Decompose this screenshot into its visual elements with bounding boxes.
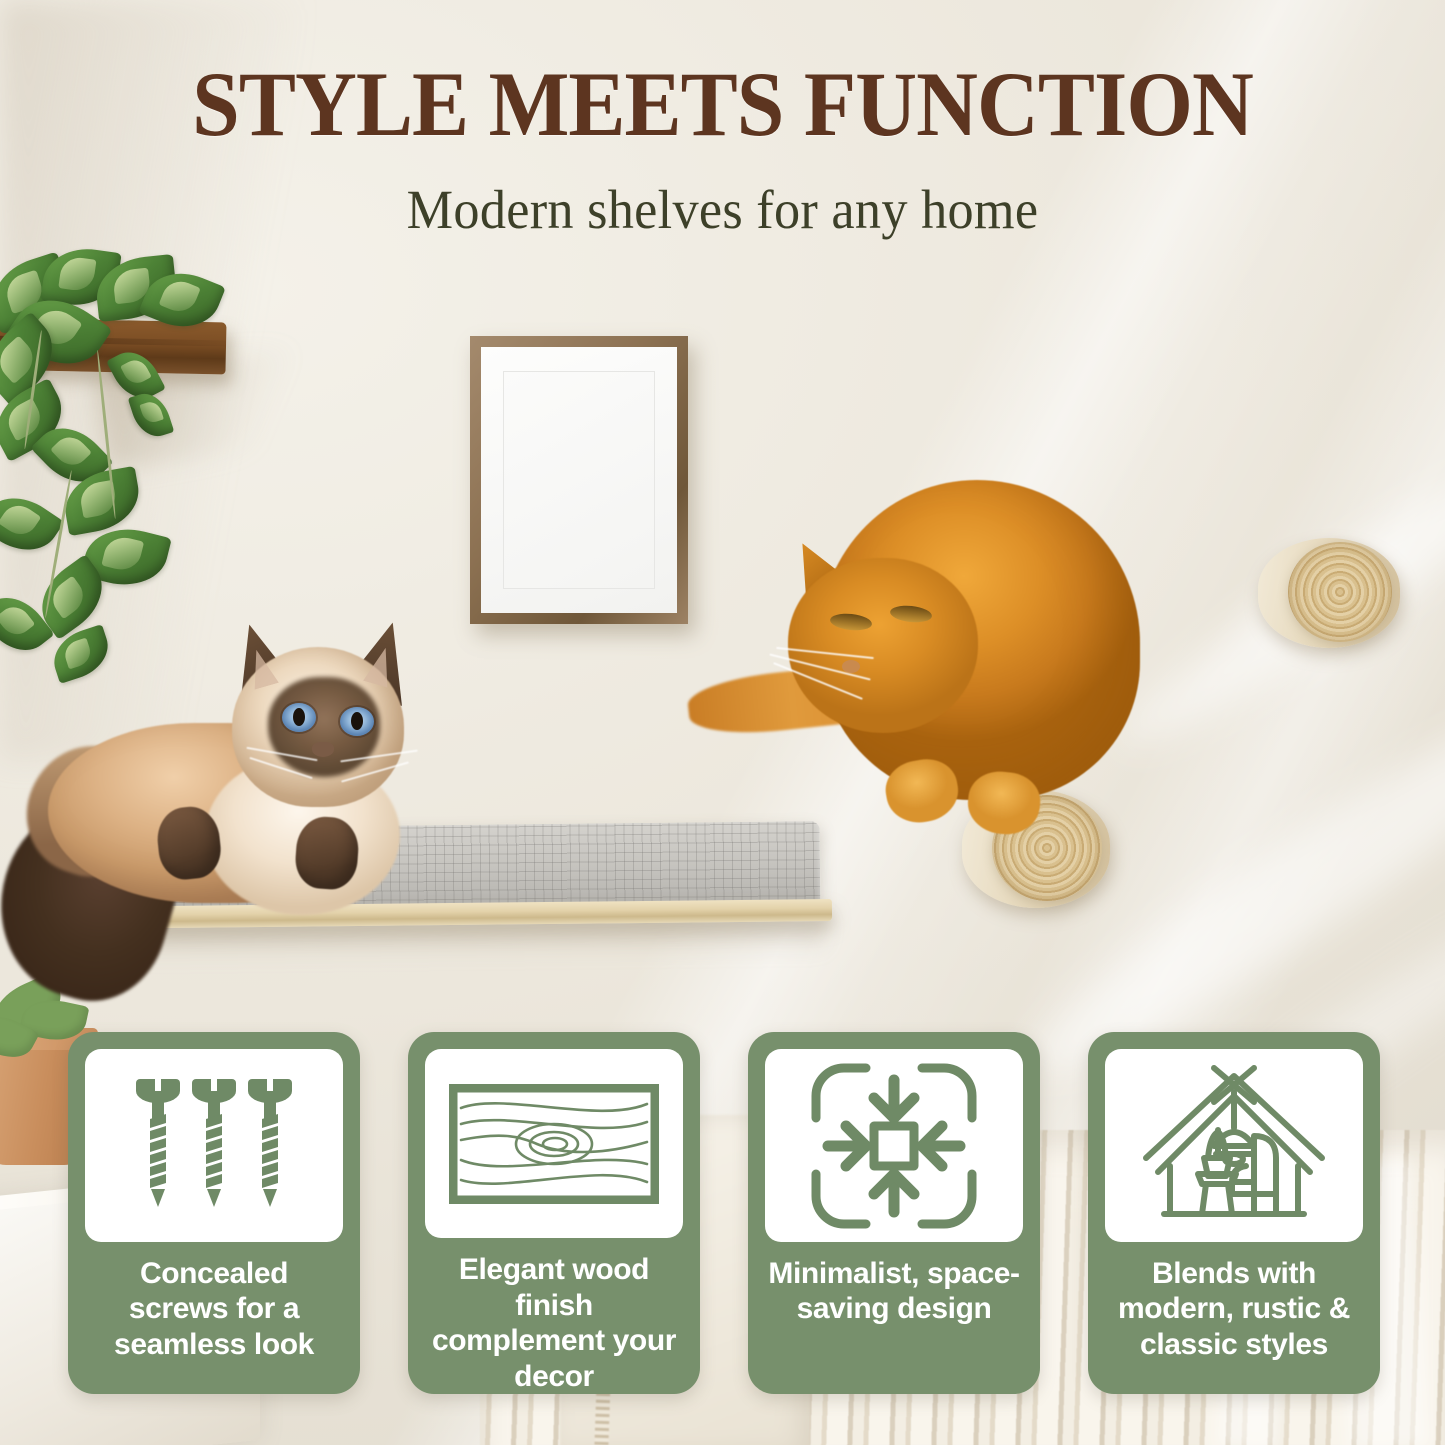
cat-head bbox=[788, 558, 978, 733]
sisal-wall-step-upper bbox=[1258, 538, 1400, 648]
sisal-step-face bbox=[1288, 542, 1392, 642]
picture-frame bbox=[470, 336, 688, 624]
picture-frame-mat bbox=[481, 347, 677, 613]
orange-tabby-cat bbox=[690, 470, 1160, 870]
feature-label: Concealed screws for a seamless look bbox=[85, 1256, 343, 1362]
feature-label: Blends with modern, rustic & classic sty… bbox=[1105, 1256, 1363, 1362]
feature-card-space-saving[interactable]: Minimalist, space-saving design bbox=[748, 1032, 1040, 1394]
page-title: STYLE MEETS FUNCTION bbox=[51, 58, 1395, 150]
feature-card-wood-finish[interactable]: Elegant wood finish complement your deco… bbox=[408, 1032, 700, 1394]
feature-card-row: Concealed screws for a seamless look Ele… bbox=[68, 1032, 1380, 1394]
cat-nose bbox=[842, 660, 860, 673]
feature-label: Elegant wood finish complement your deco… bbox=[425, 1252, 683, 1394]
cat-pupil-right bbox=[351, 712, 363, 730]
siamese-cat bbox=[10, 625, 440, 1005]
house-interior-icon bbox=[1105, 1049, 1363, 1242]
cat-pupil-left bbox=[293, 708, 305, 726]
screws-icon bbox=[85, 1049, 343, 1242]
page-subtitle: Modern shelves for any home bbox=[36, 178, 1409, 241]
picture-frame-inner bbox=[503, 371, 656, 589]
cat-nose bbox=[312, 742, 334, 757]
feature-card-blends-styles[interactable]: Blends with modern, rustic & classic sty… bbox=[1088, 1032, 1380, 1394]
feature-card-concealed-screws[interactable]: Concealed screws for a seamless look bbox=[68, 1032, 360, 1394]
wood-grain-plank-icon bbox=[425, 1049, 683, 1238]
feature-label: Minimalist, space-saving design bbox=[765, 1256, 1023, 1327]
space-saving-compress-icon bbox=[765, 1049, 1023, 1242]
